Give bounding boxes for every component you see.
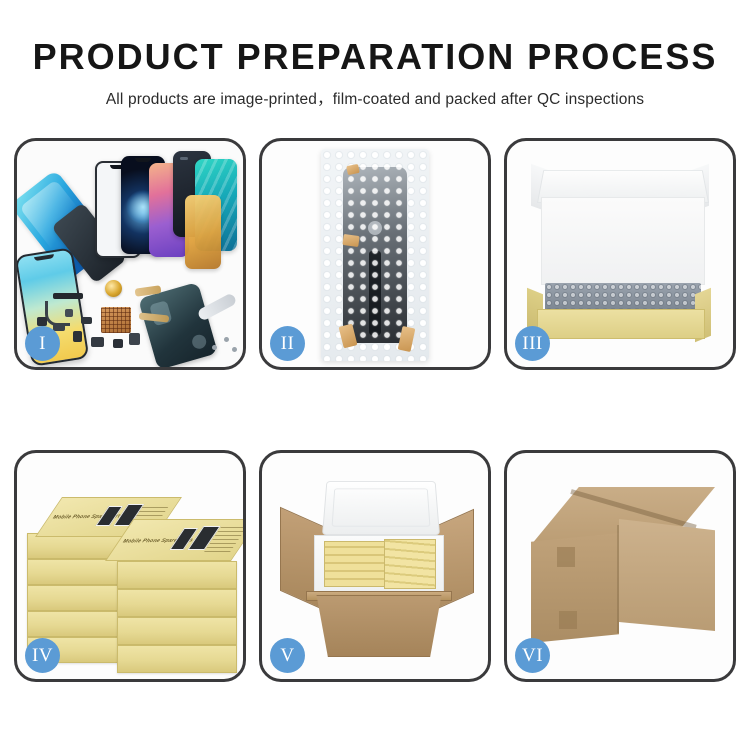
- process-card-6[interactable]: VI: [504, 450, 736, 682]
- tape-piece-icon-2: [342, 234, 359, 247]
- step-badge-3: III: [515, 326, 550, 361]
- speaker-coil-icon: [105, 280, 122, 297]
- process-card-1[interactable]: I: [14, 138, 246, 370]
- bubble-wrap-bag: [321, 149, 429, 361]
- step-badge-5: V: [270, 638, 305, 673]
- page-title: PRODUCT PREPARATION PROCESS: [0, 38, 750, 76]
- process-grid: I II III: [14, 138, 736, 682]
- foam-cooler-lid: [322, 481, 440, 535]
- page-header: PRODUCT PREPARATION PROCESS All products…: [0, 0, 750, 109]
- phone-gold-edge: [185, 195, 221, 269]
- carton-right-panel: [619, 519, 715, 631]
- page-subtitle: All products are image-printed，film-coat…: [0, 87, 750, 109]
- process-card-5[interactable]: V: [259, 450, 491, 682]
- step-badge-6: VI: [515, 638, 550, 673]
- carton-tape-bottom: [559, 611, 577, 629]
- packed-boxes-right: [384, 539, 436, 589]
- process-card-3[interactable]: III: [504, 138, 736, 370]
- step-badge-1: I: [25, 326, 60, 361]
- process-card-4[interactable]: Mobile Phone Spare Parts Mobile Phone Sp…: [14, 450, 246, 682]
- step-badge-4: IV: [25, 638, 60, 673]
- battery-strip-icon: [53, 293, 83, 299]
- foam-padding: [545, 283, 701, 311]
- box-interior: [541, 197, 705, 285]
- step-badge-2: II: [270, 326, 305, 361]
- box-front-panel: [537, 309, 705, 339]
- carton-tape-top: [557, 547, 575, 567]
- carton-front-panel: [308, 595, 450, 657]
- copper-mesh-icon: [101, 307, 131, 333]
- process-card-2[interactable]: II: [259, 138, 491, 370]
